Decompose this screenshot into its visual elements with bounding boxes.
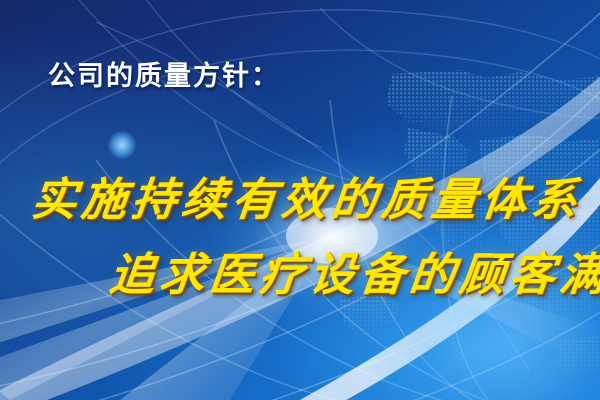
slogan-line-2: 追求医疗设备的顾客满意 (107, 238, 600, 303)
slogan-line-1: 实施持续有效的质量体系 (29, 163, 586, 228)
page-title: 公司的质量方针： (48, 54, 280, 93)
network-node-glow (108, 131, 136, 159)
slide-canvas: 公司的质量方针： 实施持续有效的质量体系 追求医疗设备的顾客满意 (0, 0, 600, 400)
